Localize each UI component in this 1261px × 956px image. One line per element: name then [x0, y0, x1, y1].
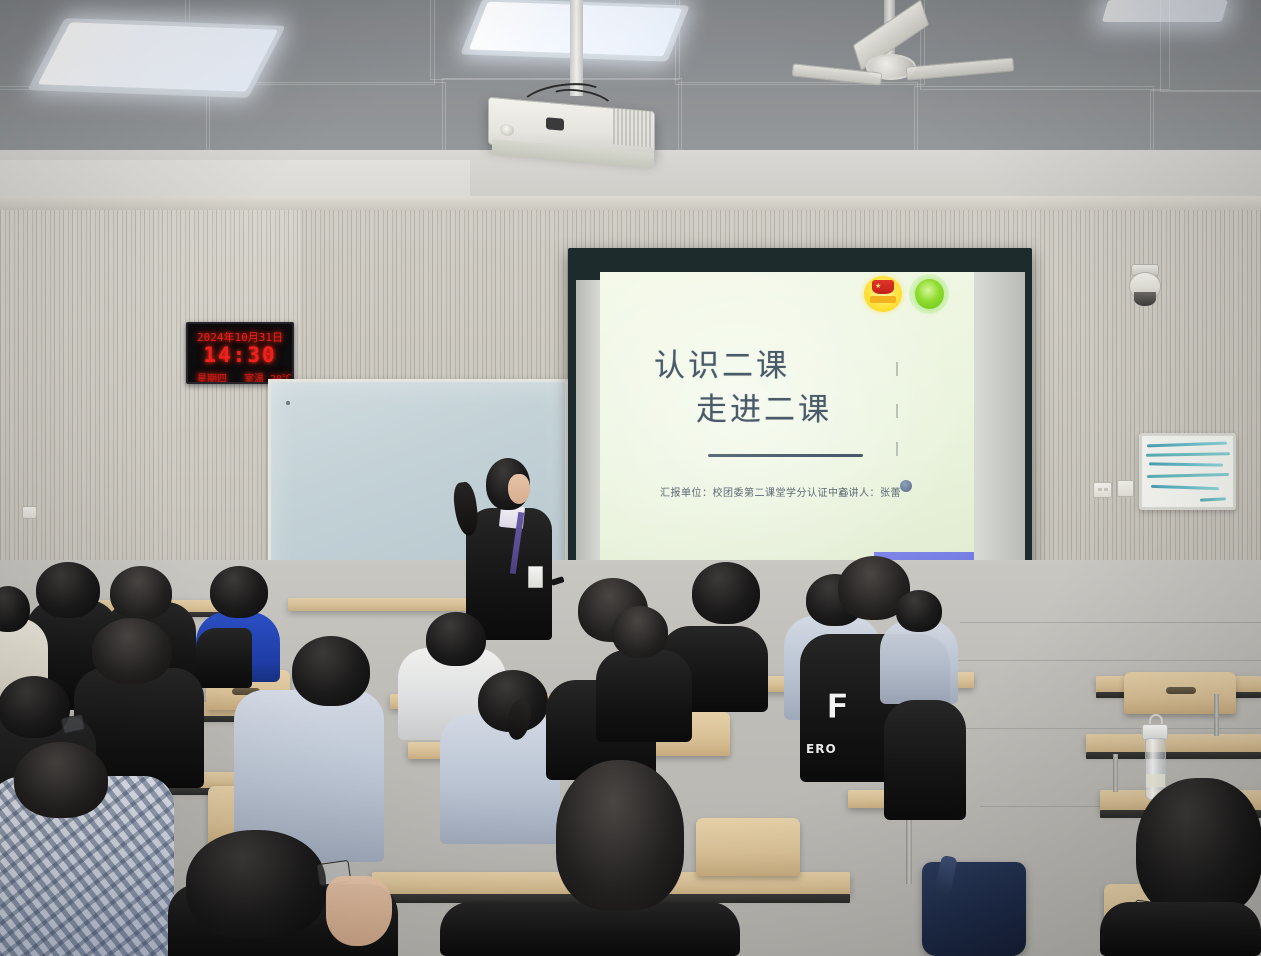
student-body-front-4 [440, 902, 740, 956]
student-head-front-4 [556, 760, 684, 910]
slide-subtitle-org-value: 校团委第二课堂学分认证中心 [713, 488, 850, 499]
student-body-mid-7 [596, 650, 692, 742]
student-head-mid-2 [292, 636, 370, 706]
slide-divider-rule [708, 454, 863, 457]
emblem-ribbon [870, 296, 896, 303]
student-head-front-5 [1136, 778, 1261, 918]
slide-subtitle-org-label: 汇报单位： [660, 488, 713, 499]
jacket-letter-graphic: F [826, 690, 849, 724]
wall-switch-plate-left[interactable] [1093, 482, 1112, 498]
note-line-3 [1149, 462, 1223, 466]
student-body-right-4 [884, 700, 966, 820]
projector-mount-pole [570, 0, 583, 96]
student-head-back-3 [210, 566, 268, 618]
projector-lens [500, 123, 514, 136]
student-head-front-1 [0, 676, 70, 738]
student-head-mid-3 [426, 612, 486, 666]
desk-back-center [288, 598, 486, 611]
water-bottle-label [1146, 774, 1165, 787]
desk-leg-right-2 [1113, 754, 1118, 792]
projection-screen-image: ★ 认识二课 走进二课 汇报单位：校团委第二课堂学分认证中心 宣讲人：张蕾 [600, 272, 974, 608]
ceiling-light-1 [38, 22, 279, 91]
led-clock-time: 14:30 [188, 343, 292, 367]
note-line-5 [1151, 485, 1219, 490]
left-wall-slat-panel [0, 196, 300, 616]
student-head-mid-1 [92, 618, 172, 684]
wall-plate-left-side[interactable] [22, 506, 37, 519]
student-head-front-2 [14, 742, 108, 818]
student-head-right-3 [896, 590, 942, 632]
desk-leg-right-1 [1214, 694, 1219, 736]
green-campus-emblem [915, 279, 944, 309]
wall-trim-band [0, 196, 1261, 210]
whiteboard-pin-top [286, 401, 290, 405]
student-body-back-3b [196, 628, 252, 688]
note-line-6 [1200, 497, 1226, 501]
presenter-id-badge [528, 566, 543, 588]
projector-vent [613, 108, 653, 147]
student-head-back-2 [110, 566, 172, 620]
student-head-mid-7 [612, 606, 668, 658]
note-line-4 [1147, 473, 1229, 478]
speaker-avatar [900, 480, 912, 492]
slide-subtitle-org: 汇报单位：校团委第二课堂学分认证中心 [660, 484, 849, 499]
presenter-face [508, 474, 530, 504]
student-body-right-3 [880, 620, 958, 704]
slide-tick-1 [896, 362, 898, 376]
slide-subtitle-speaker-value: 张蕾 [880, 488, 901, 499]
note-line-1 [1147, 442, 1227, 448]
slide-tick-3 [896, 442, 898, 456]
camera-lens-dome [1134, 292, 1156, 306]
desk-right-row-2 [1086, 734, 1261, 754]
classroom-scene: 2024年10月31日 14:30 星期四 室温 20℃ ★ 认识二课 走进二课 [0, 0, 1261, 956]
ceiling-light-3 [1102, 0, 1228, 22]
slide-tick-2 [896, 404, 898, 418]
emblem-star-icon: ★ [875, 283, 881, 290]
student-head-front-3 [186, 830, 326, 938]
wall-outlet-plate-right[interactable] [1117, 480, 1134, 497]
student-face-front-3 [326, 876, 392, 946]
chair-row4-a[interactable] [696, 818, 800, 876]
slide-subtitle-speaker-label: 宣讲人： [838, 488, 880, 499]
student-body-mid-4 [440, 714, 560, 844]
student-head-back-1 [36, 562, 100, 618]
screen-side-panel-right [973, 272, 1025, 602]
student-body-front-5 [1100, 902, 1261, 956]
note-line-2 [1146, 452, 1230, 456]
student-head-mid-6 [692, 562, 760, 624]
chair-right-row-1-slot [1166, 687, 1196, 694]
jacket-text-graphic: ERO [806, 742, 837, 756]
slide-subtitle-speaker: 宣讲人：张蕾 [838, 484, 901, 499]
slide-title-line-2: 走进二课 [696, 384, 832, 429]
wall-note-board [1139, 433, 1236, 510]
slide-title-line-1: 认识二课 [654, 340, 790, 385]
led-clock-display: 2024年10月31日 14:30 星期四 室温 20℃ [186, 322, 294, 384]
projector-port-block [546, 117, 564, 131]
